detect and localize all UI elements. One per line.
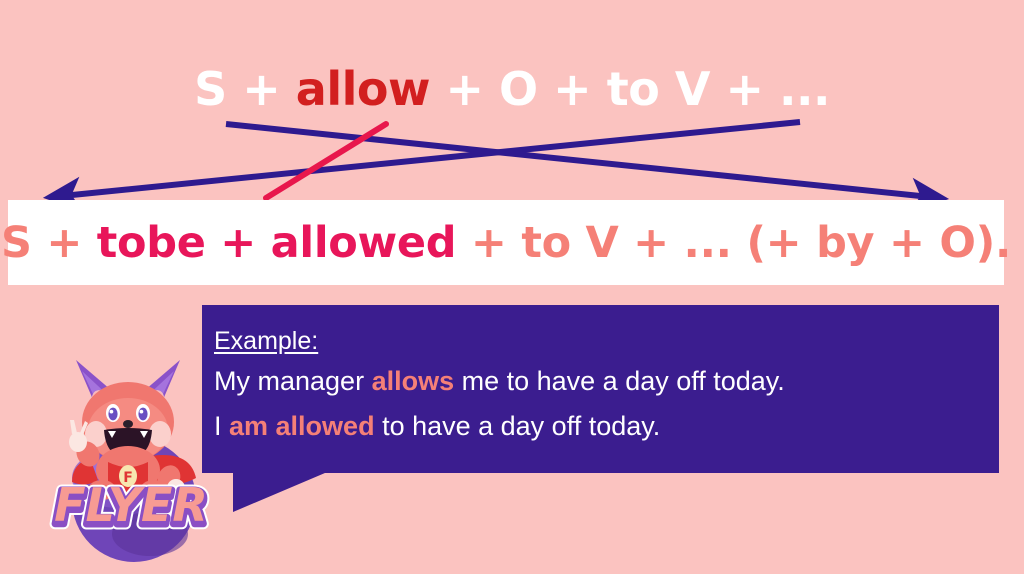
- example-sentence-active: My manager allows me to have a day off t…: [214, 359, 999, 404]
- flyer-brand-mascot: F FLYER FLYER FLYER: [38, 338, 224, 566]
- flyer-logo-text: FLYER: [54, 478, 208, 532]
- arrow-to-left: [62, 122, 800, 196]
- speech-bubble-tail: [202, 470, 362, 520]
- passive-formula-verb: tobe + allowed: [97, 218, 457, 268]
- active-voice-formula: S + allow + O + to V + ...: [0, 60, 1024, 118]
- passive-voice-formula: S + tobe + allowed + to V + ... (+ by + …: [1, 216, 1011, 270]
- active-formula-rest: + O + to V + ...: [430, 62, 830, 116]
- passive-voice-bar: S + tobe + allowed + to V + ... (+ by + …: [8, 200, 1004, 285]
- example-label: Example:: [214, 323, 999, 359]
- red-cross-line: [266, 124, 386, 198]
- active-formula-subject: S +: [194, 62, 296, 116]
- active-formula-verb: allow: [296, 62, 430, 116]
- flyer-wordmark: FLYER FLYER FLYER: [54, 478, 208, 535]
- example-box: Example: My manager allows me to have a …: [202, 305, 999, 473]
- arrow-to-right: [226, 124, 930, 197]
- grammar-slide: S + allow + O + to V + ... S + tobe + al…: [0, 0, 1024, 574]
- example-1-part-1: My manager: [214, 366, 372, 396]
- example-1-part-3: me to have a day off today.: [454, 366, 785, 396]
- example-2-part-3: to have a day off today.: [375, 411, 661, 441]
- example-1-verb: allows: [372, 366, 455, 396]
- peace-sign-hand-icon: [69, 420, 88, 452]
- passive-formula-subject: S +: [1, 218, 97, 268]
- example-2-verb: am allowed: [229, 411, 375, 441]
- example-sentence-passive: I am allowed to have a day off today.: [214, 404, 999, 449]
- passive-formula-rest: + to V + ... (+ by + O).: [456, 218, 1011, 268]
